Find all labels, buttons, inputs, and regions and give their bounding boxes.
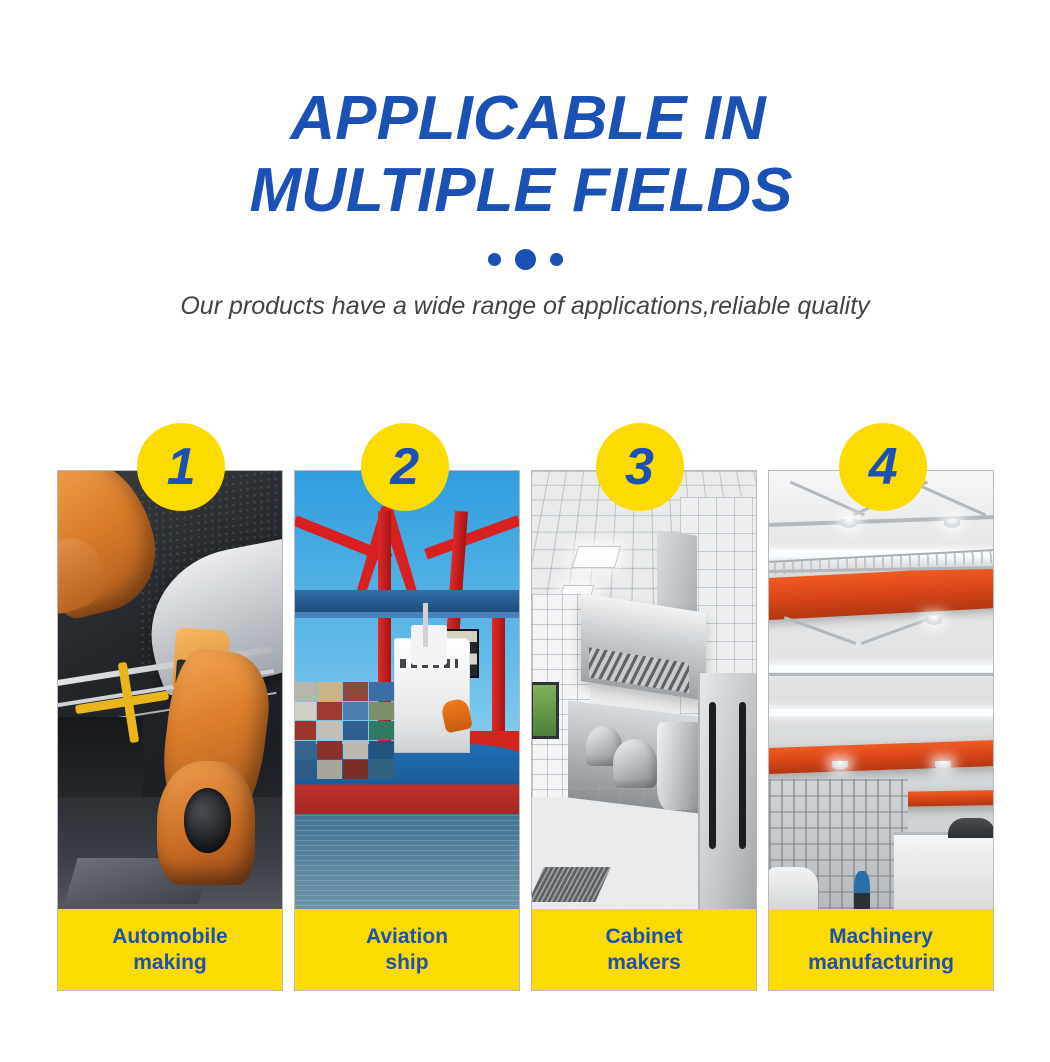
page-title: APPLICABLE IN MULTIPLE FIELDS [0,88,1050,222]
field-card-machinery-manufacturing[interactable]: 4 Machinery manufacturing [768,470,994,991]
cargo-containers [295,682,394,779]
card-badge-1: 1 [137,423,225,511]
divider-dots [0,246,1050,272]
page-subtitle: Our products have a wide range of applic… [0,289,1050,323]
card-label-machinery-manufacturing: Machinery manufacturing [769,909,993,990]
title-line-1: APPLICABLE IN [6,88,1050,150]
card-label-line-1: Cabinet [605,924,682,950]
card-badge-4: 4 [839,423,927,511]
card-label-aviation-ship: Aviation ship [295,909,519,990]
card-badge-2: 2 [361,423,449,511]
card-label-line-1: Automobile [112,924,228,950]
divider-dot-center [515,249,536,270]
card-badge-3: 3 [596,423,684,511]
field-cards-row: 1 Automobile making [57,470,1001,991]
field-card-aviation-ship[interactable]: 2 Aviation ship [294,470,520,991]
applicable-fields-banner: APPLICABLE IN MULTIPLE FIELDS Our produc… [0,0,1050,1062]
card-label-line-2: ship [385,950,428,976]
card-label-line-2: makers [607,950,681,976]
card-label-automobile-making: Automobile making [58,909,282,990]
card-label-line-1: Machinery [829,924,933,950]
card-image-factory-interior-overhead-crane [769,471,993,911]
card-image-robotic-arms-automotive-assembly-line [58,471,282,911]
header-section: APPLICABLE IN MULTIPLE FIELDS [0,0,1050,222]
title-line-2: MULTIPLE FIELDS [0,160,1050,222]
divider-dot-right [550,253,563,266]
card-label-cabinet-makers: Cabinet makers [532,909,756,990]
field-card-automobile-making[interactable]: 1 Automobile making [57,470,283,991]
field-card-cabinet-makers[interactable]: 3 Cabinet makers [531,470,757,991]
card-image-container-ship-port-cranes [295,471,519,911]
card-image-commercial-stainless-steel-kitchen [532,471,756,911]
card-label-line-2: manufacturing [808,950,954,976]
card-label-line-2: making [133,950,207,976]
divider-dot-left [488,253,501,266]
card-label-line-1: Aviation [366,924,448,950]
